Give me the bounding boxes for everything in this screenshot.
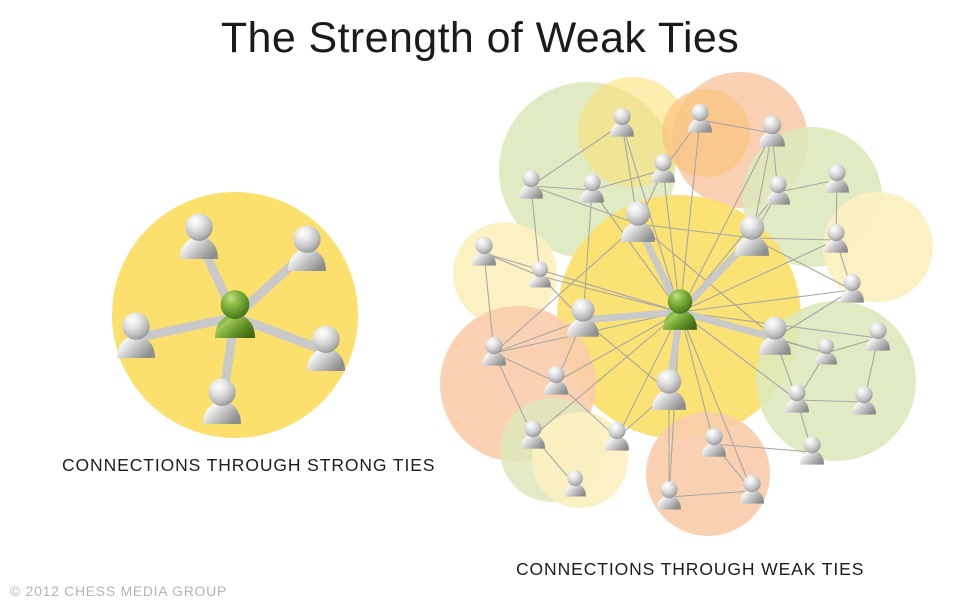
connection-line [235, 317, 326, 351]
connection-line [199, 239, 235, 317]
connection-line [583, 320, 669, 392]
connection-line [775, 290, 852, 338]
connection-line [622, 124, 680, 312]
connection-line [700, 120, 772, 133]
cluster-blob [557, 195, 801, 439]
connection-line [680, 312, 714, 444]
connection-line [680, 312, 775, 338]
connection-line [540, 276, 680, 312]
connection-line [556, 382, 617, 438]
connection-line [533, 312, 680, 436]
connection-line [638, 224, 680, 312]
connection-line [797, 400, 864, 402]
person-icon [652, 369, 686, 410]
person-icon [567, 299, 599, 337]
connection-line [617, 312, 680, 438]
connection-line [680, 192, 778, 312]
weak-ties-edges-strong [583, 224, 775, 392]
weak-ties-panel [440, 72, 933, 536]
cluster-blob [499, 82, 675, 258]
connection-line [484, 253, 680, 312]
connection-line [772, 133, 778, 192]
connection-line [714, 444, 812, 452]
cluster-blob [453, 222, 557, 326]
person-icon [740, 475, 764, 504]
cluster-blob [532, 412, 628, 508]
connection-line [556, 320, 583, 382]
connection-line [622, 124, 638, 224]
connection-line [663, 170, 680, 312]
connection-line [775, 338, 826, 353]
connection-line [638, 170, 663, 224]
connection-line [533, 436, 575, 485]
cluster-blob [646, 412, 770, 536]
connection-line [752, 238, 836, 240]
person-icon [307, 326, 345, 371]
connection-line [797, 400, 812, 452]
cluster-blob [742, 127, 882, 267]
person-icon [702, 428, 726, 457]
weak-ties-edges-weak [484, 120, 878, 497]
cluster-blob [112, 192, 358, 438]
caption-strong-ties: CONNECTIONS THROUGH STRONG TIES [62, 455, 435, 476]
cluster-blob [672, 72, 808, 208]
connection-line [680, 133, 772, 312]
connection-line [540, 276, 583, 320]
connection-line [669, 312, 680, 392]
connection-line [775, 338, 797, 400]
connection-line [494, 312, 680, 353]
connection-line [680, 290, 852, 312]
weak-ties-blobs [440, 72, 933, 536]
person-icon [866, 322, 890, 351]
connection-line [752, 133, 772, 238]
cluster-blob [578, 77, 688, 187]
connection-line [531, 124, 622, 186]
connection-line [778, 180, 837, 192]
person-icon [580, 174, 604, 203]
person-icon [815, 338, 837, 364]
caption-weak-ties: CONNECTIONS THROUGH WEAK TIES [516, 559, 864, 580]
connection-line [669, 312, 680, 497]
connection-line [663, 120, 700, 170]
person-icon [657, 481, 681, 510]
connection-line [235, 251, 307, 317]
person-icon [852, 386, 876, 415]
person-icon [117, 313, 155, 358]
connection-line [638, 224, 775, 338]
connection-line [531, 186, 592, 190]
slide-canvas: The Strength of Weak Ties [0, 0, 960, 609]
connection-line [752, 238, 852, 290]
connection-line [680, 120, 700, 312]
person-icon [519, 170, 543, 199]
connection-line [531, 186, 540, 276]
cluster-blob [662, 89, 750, 177]
strong-ties-nodes [117, 214, 345, 424]
person-icon [288, 226, 326, 271]
connection-line [680, 312, 878, 338]
person-icon [203, 379, 241, 424]
ego-person-icon [215, 290, 255, 338]
connection-line [680, 238, 752, 312]
person-icon [825, 164, 849, 193]
connection-line [836, 180, 837, 240]
page-title: The Strength of Weak Ties [0, 14, 960, 63]
person-icon [840, 274, 864, 303]
connection-line [797, 353, 826, 400]
connection-line [136, 317, 235, 338]
person-icon [785, 384, 809, 413]
connection-line [494, 320, 583, 353]
person-icon [759, 116, 785, 147]
connection-line [484, 253, 540, 276]
person-icon [482, 337, 506, 366]
person-icon [621, 201, 655, 242]
connection-line [826, 338, 878, 353]
connection-line [669, 491, 752, 497]
person-icon [651, 154, 675, 183]
cluster-blob [500, 398, 604, 502]
person-icon [529, 261, 551, 287]
ego-person-icon [663, 289, 697, 330]
connection-line [752, 192, 778, 238]
person-icon [800, 436, 824, 465]
person-icon [688, 104, 712, 133]
person-icon [521, 420, 545, 449]
connection-line [680, 312, 826, 353]
connection-line [864, 338, 878, 402]
connection-line [680, 312, 752, 491]
connection-line [617, 392, 669, 438]
cluster-blob [440, 306, 596, 462]
connection-line [583, 190, 592, 320]
connection-line [494, 353, 533, 436]
strong-ties-blobs [112, 192, 358, 438]
connection-line [680, 312, 797, 400]
strong-ties-edges [136, 239, 326, 404]
connection-line [680, 240, 836, 312]
connection-line [714, 444, 752, 491]
person-icon [180, 214, 218, 259]
person-icon [472, 237, 496, 266]
person-icon [735, 215, 769, 256]
person-icon [605, 422, 629, 451]
connection-line [836, 240, 852, 290]
person-icon [564, 470, 586, 496]
network-illustration [0, 0, 960, 609]
strong-ties-panel [112, 192, 358, 438]
connection-line [592, 190, 680, 312]
weak-ties-nodes [472, 104, 890, 510]
person-icon [610, 108, 634, 137]
person-icon [824, 224, 848, 253]
person-icon [766, 176, 790, 205]
cluster-blob [756, 301, 916, 461]
connection-line [494, 224, 638, 353]
connection-line [592, 170, 663, 190]
connection-line [556, 312, 680, 382]
person-icon [759, 317, 791, 355]
connection-line [531, 186, 638, 224]
connection-line [494, 353, 556, 382]
cluster-blob [823, 192, 933, 302]
connection-line [583, 312, 680, 320]
connection-line [638, 224, 752, 238]
connection-line [222, 317, 235, 404]
copyright-notice: © 2012 CHESS MEDIA GROUP [10, 583, 227, 599]
person-icon [544, 366, 568, 395]
connection-line [484, 253, 494, 353]
